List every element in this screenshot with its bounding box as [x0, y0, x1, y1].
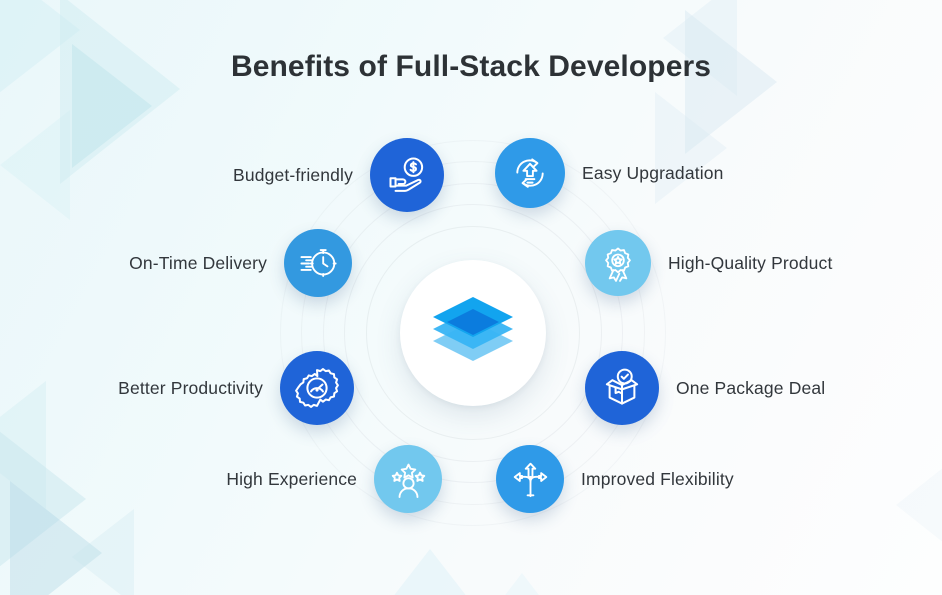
page-title-rest: of Full-Stack Developers	[350, 50, 711, 83]
three-way-arrows-icon[interactable]	[496, 445, 564, 513]
benefit-label: Budget-friendly	[233, 164, 353, 186]
fast-clock-icon[interactable]	[284, 229, 352, 297]
open-box-check-icon[interactable]	[585, 351, 659, 425]
benefit-item[interactable]: Improved Flexibility	[496, 445, 916, 513]
benefit-label: On-Time Delivery	[129, 252, 267, 274]
benefit-label: One Package Deal	[676, 377, 825, 399]
page-title-highlight: Benefits	[231, 48, 350, 86]
stacked-layers-icon	[430, 291, 516, 376]
gear-gauge-icon[interactable]	[280, 351, 354, 425]
benefit-item[interactable]: On-Time Delivery	[30, 229, 352, 297]
triangle-decor-bottom-left-4	[72, 509, 134, 595]
benefit-item[interactable]: Better Productivity	[30, 351, 354, 425]
benefit-item[interactable]: High-Quality Product	[585, 230, 915, 296]
triangle-decor-bottom-center-2	[470, 573, 574, 595]
benefit-label: Easy Upgradation	[582, 162, 724, 184]
page-title: Benefits of Full-Stack Developers	[231, 48, 711, 86]
triangle-decor-bottom-center-1	[368, 549, 492, 595]
benefit-item[interactable]: Budget-friendly	[30, 138, 444, 212]
infographic-canvas: Benefits of Full-Stack Developers Budget…	[0, 0, 942, 595]
person-stars-icon[interactable]	[374, 445, 442, 513]
center-hub	[400, 260, 546, 406]
hand-holding-dollar-icon[interactable]	[370, 138, 444, 212]
benefit-label: Improved Flexibility	[581, 468, 734, 490]
benefit-label: Better Productivity	[118, 377, 263, 399]
award-ribbon-icon[interactable]	[585, 230, 651, 296]
benefit-item[interactable]: High Experience	[30, 445, 442, 513]
benefit-item[interactable]: Easy Upgradation	[495, 138, 915, 208]
benefit-label: High Experience	[226, 468, 357, 490]
benefit-item[interactable]: One Package Deal	[585, 351, 915, 425]
page-title-wrap: Benefits of Full-Stack Developers	[0, 48, 942, 86]
benefit-label: High-Quality Product	[668, 252, 832, 274]
upload-refresh-icon[interactable]	[495, 138, 565, 208]
